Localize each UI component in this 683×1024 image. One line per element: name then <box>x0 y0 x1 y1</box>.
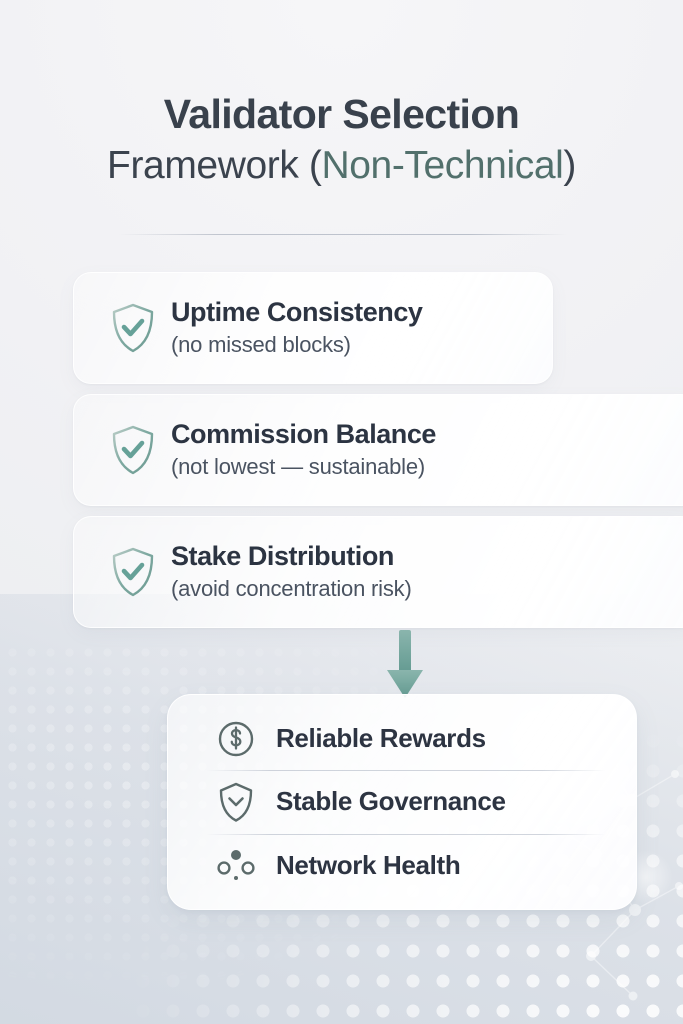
page-title: Validator Selection Framework (Non-Techn… <box>0 92 683 191</box>
outcome-label: Reliable Rewards <box>276 723 486 754</box>
criteria-card-stake[interactable]: Stake Distribution (avoid concentration … <box>73 516 683 628</box>
criteria-subtitle: (avoid concentration risk) <box>171 576 412 602</box>
outcome-label: Network Health <box>276 850 460 881</box>
infographic-canvas: Validator Selection Framework (Non-Techn… <box>0 0 683 1024</box>
outcome-row-network[interactable]: Network Health <box>168 834 636 897</box>
outcome-row-governance[interactable]: Stable Governance <box>168 770 636 833</box>
criteria-text: Uptime Consistency (no missed blocks) <box>171 297 422 358</box>
criteria-card-uptime[interactable]: Uptime Consistency (no missed blocks) <box>73 272 553 384</box>
network-nodes-icon <box>210 847 262 883</box>
title-prefix: Framework ( <box>107 144 321 187</box>
title-line-primary: Validator Selection <box>0 92 683 138</box>
criteria-card-commission[interactable]: Commission Balance (not lowest — sustain… <box>73 394 683 506</box>
shield-check-icon <box>101 546 165 598</box>
title-suffix: ) <box>563 144 576 187</box>
shield-check-icon <box>101 424 165 476</box>
outcome-label: Stable Governance <box>276 786 506 817</box>
title-divider <box>118 234 568 235</box>
criteria-text: Stake Distribution (avoid concentration … <box>171 541 412 602</box>
criteria-title: Stake Distribution <box>171 541 412 573</box>
shield-check-icon <box>101 302 165 354</box>
dollar-circle-icon <box>210 719 262 759</box>
shield-chevron-icon <box>210 781 262 823</box>
criteria-title: Uptime Consistency <box>171 297 422 329</box>
criteria-title: Commission Balance <box>171 419 436 451</box>
title-accent-text: Non-Technical <box>321 144 563 187</box>
criteria-subtitle: (not lowest — sustainable) <box>171 454 436 480</box>
title-line-secondary: Framework (Non-Technical) <box>0 142 683 191</box>
criteria-subtitle: (no missed blocks) <box>171 332 422 358</box>
criteria-text: Commission Balance (not lowest — sustain… <box>171 419 436 480</box>
outcomes-card: Reliable Rewards Stable Governance N <box>167 694 637 910</box>
outcome-row-rewards[interactable]: Reliable Rewards <box>168 707 636 770</box>
